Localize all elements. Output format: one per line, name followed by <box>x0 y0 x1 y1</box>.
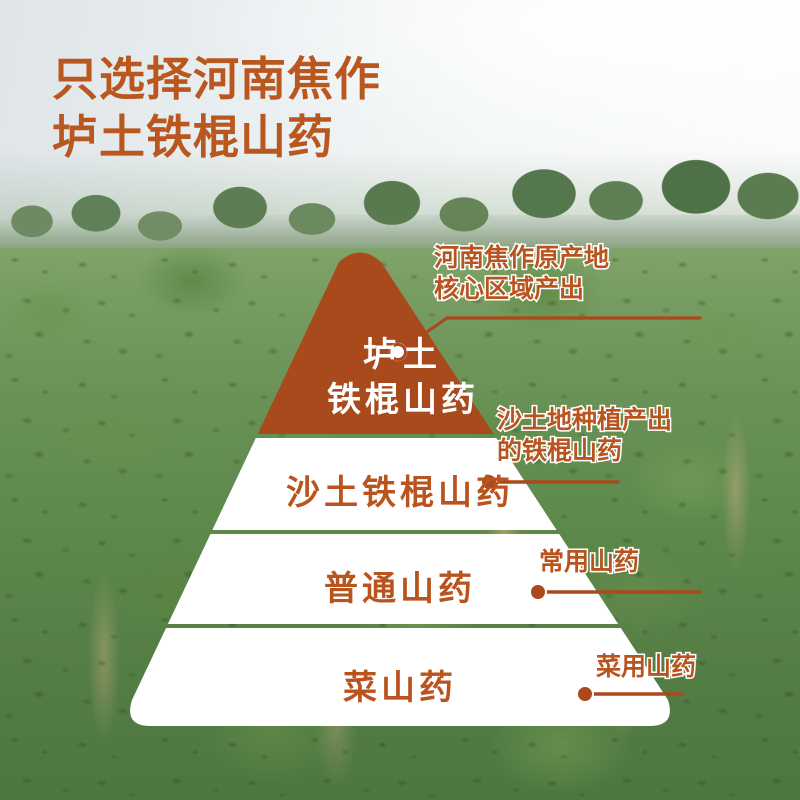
annotation-3: 常用山药 <box>539 547 639 578</box>
annotation-2-line-1: 沙土地种植产出 <box>497 405 672 436</box>
promo-banner: 只选择河南焦作 垆土铁棍山药 <box>0 0 800 800</box>
annotation-1-line-2: 核心区域产出 <box>434 274 609 305</box>
annotation-2-line-2: 的铁棍山药 <box>497 436 672 467</box>
annotation-3-line-1: 常用山药 <box>539 547 639 578</box>
annotation-1-line-1: 河南焦作原产地 <box>434 243 609 274</box>
pyramid-tier-1-shape[interactable] <box>100 230 700 434</box>
annotation-4-line-1: 菜用山药 <box>596 652 696 683</box>
annotation-4: 菜用山药 <box>596 652 696 683</box>
pyramid-tier-4-shape[interactable] <box>100 628 700 738</box>
annotation-1: 河南焦作原产地 核心区域产出 <box>434 243 609 304</box>
annotation-2: 沙土地种植产出 的铁棍山药 <box>497 405 672 466</box>
